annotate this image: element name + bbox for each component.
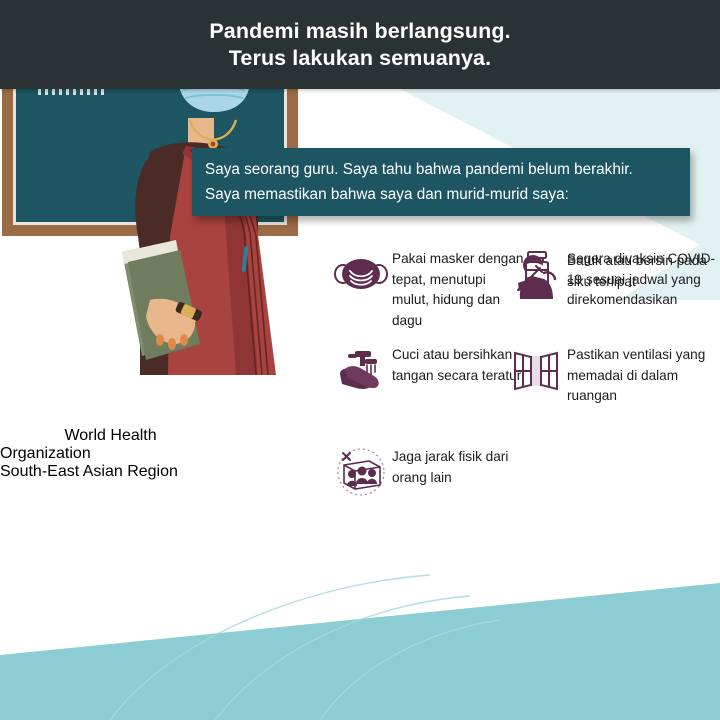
header-banner: Pandemi masih berlangsung. Terus lakukan…	[0, 0, 720, 89]
tip-mask: Pakai masker dengan tepat, menutupi mulu…	[330, 247, 525, 331]
quote-line-1: Saya seorang guru. Saya tahu bahwa pande…	[205, 157, 690, 182]
quote-box: Saya seorang guru. Saya tahu bahwa pande…	[192, 148, 690, 216]
prevention-tips-list: Pakai masker dengan tepat, menutupi mulu…	[330, 247, 720, 542]
tip-vaccine: Segera divaksin COVID-19 sesuai jadwal y…	[505, 247, 720, 311]
tip-ventilation-text: Pastikan ventilasi yang memadai di dalam…	[567, 343, 720, 407]
tip-handwashing: Cuci atau bersihkan tangan secara teratu…	[330, 343, 525, 397]
open-window-icon	[505, 343, 567, 397]
tip-physical-distancing: Jaga jarak fisik dari orang lain	[330, 445, 525, 499]
physical-distancing-icon	[330, 445, 392, 499]
header-title-line-1: Pandemi masih berlangsung.	[209, 18, 510, 45]
tip-physical-distancing-text: Jaga jarak fisik dari orang lain	[392, 445, 525, 488]
who-infographic-poster: Pandemi masih berlangsung. Terus lakukan…	[0, 0, 720, 720]
face-mask-icon	[330, 247, 392, 301]
tip-ventilation: Pastikan ventilasi yang memadai di dalam…	[505, 343, 720, 407]
vaccine-vial-icon	[505, 247, 567, 301]
quote-line-2: Saya memastikan bahwa saya dan murid-mur…	[205, 182, 690, 207]
header-title-line-2: Terus lakukan semuanya.	[229, 45, 491, 72]
bottom-teal-band	[0, 583, 720, 720]
hand-washing-icon	[330, 343, 392, 397]
tip-vaccine-text: Segera divaksin COVID-19 sesuai jadwal y…	[567, 247, 720, 311]
